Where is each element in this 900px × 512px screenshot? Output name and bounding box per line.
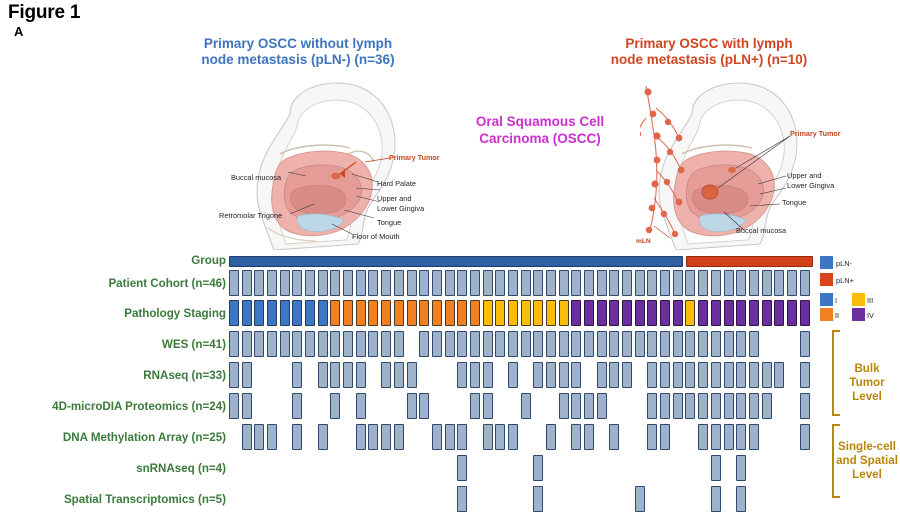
matrix-cell xyxy=(622,331,632,357)
matrix-cell xyxy=(242,331,252,357)
matrix-cell xyxy=(609,362,619,388)
matrix-row xyxy=(229,300,812,326)
matrix-cell xyxy=(635,270,645,296)
matrix-cell xyxy=(800,270,810,296)
matrix-cell xyxy=(229,300,239,326)
matrix-cell xyxy=(483,424,493,450)
matrix-cell xyxy=(407,300,417,326)
matrix-cell xyxy=(457,300,467,326)
matrix-cell xyxy=(762,300,772,326)
matrix-cell xyxy=(229,331,239,357)
legend-swatch-stage-IV xyxy=(852,308,865,321)
matrix-cell xyxy=(292,300,302,326)
matrix-cell xyxy=(457,424,467,450)
matrix-cell xyxy=(800,393,810,419)
matrix-cell xyxy=(495,270,505,296)
matrix-cell xyxy=(305,270,315,296)
matrix-cell xyxy=(559,300,569,326)
matrix-row-labels: GroupPatient Cohort (n=46)Pathology Stag… xyxy=(0,256,226,506)
anno-buccal-mucosa-left: Buccal mucosa xyxy=(231,173,281,182)
matrix-cell xyxy=(787,300,797,326)
matrix-cell xyxy=(559,393,569,419)
matrix-cell xyxy=(546,362,556,388)
matrix-cell xyxy=(685,362,695,388)
matrix-cell xyxy=(318,300,328,326)
matrix-cell xyxy=(521,270,531,296)
bracket-sc-line2: and Spatial xyxy=(836,454,898,468)
anno-retromolar-trigone: Retromolar Trigone xyxy=(219,211,282,220)
matrix-cell xyxy=(343,362,353,388)
matrix-cell xyxy=(698,424,708,450)
matrix-cell xyxy=(242,300,252,326)
matrix-cell xyxy=(470,270,480,296)
matrix-cell xyxy=(673,362,683,388)
matrix-cell xyxy=(711,270,721,296)
matrix-cell xyxy=(597,331,607,357)
matrix-cell xyxy=(457,270,467,296)
matrix-cell xyxy=(330,300,340,326)
matrix-cell xyxy=(483,393,493,419)
matrix-cell xyxy=(571,424,581,450)
matrix-cell xyxy=(673,270,683,296)
matrix-cell xyxy=(419,270,429,296)
matrix-row xyxy=(229,331,812,357)
matrix-cell xyxy=(419,331,429,357)
matrix-cell xyxy=(673,300,683,326)
matrix-cell xyxy=(597,393,607,419)
matrix-cell xyxy=(445,331,455,357)
matrix-cell xyxy=(381,331,391,357)
matrix-row xyxy=(229,424,812,450)
matrix-cell xyxy=(330,331,340,357)
matrix-cell xyxy=(356,270,366,296)
matrix-cell xyxy=(407,270,417,296)
matrix-cell xyxy=(445,424,455,450)
matrix-cell xyxy=(774,362,784,388)
matrix-cell xyxy=(622,270,632,296)
matrix-cell xyxy=(445,300,455,326)
matrix-cell xyxy=(483,300,493,326)
matrix-cell xyxy=(647,393,657,419)
matrix-cell xyxy=(559,331,569,357)
matrix-cell xyxy=(267,300,277,326)
matrix-cell xyxy=(356,424,366,450)
matrix-cell xyxy=(356,393,366,419)
oscc-title-line1: Oral Squamous Cell xyxy=(440,113,640,130)
matrix-cell xyxy=(571,331,581,357)
matrix-cell xyxy=(432,300,442,326)
row-label-wes-n-41: WES (n=41) xyxy=(162,338,226,351)
matrix-cell xyxy=(280,300,290,326)
matrix-cell xyxy=(330,362,340,388)
matrix-cell xyxy=(483,362,493,388)
matrix-cell xyxy=(647,331,657,357)
matrix-cell xyxy=(521,393,531,419)
row-label-patient-cohort-n-46: Patient Cohort (n=46) xyxy=(108,277,226,290)
legend-label-stage-I: I xyxy=(835,296,837,305)
matrix-cell xyxy=(457,362,467,388)
matrix-cell xyxy=(571,300,581,326)
matrix-row xyxy=(229,362,812,388)
matrix-cell xyxy=(330,270,340,296)
matrix-cell xyxy=(609,270,619,296)
matrix-cell xyxy=(685,300,695,326)
row-label-rnaseq-n-33: RNAseq (n=33) xyxy=(143,369,226,382)
matrix-cell xyxy=(495,300,505,326)
matrix-cell xyxy=(432,331,442,357)
matrix-cell xyxy=(419,300,429,326)
matrix-cell xyxy=(724,362,734,388)
matrix-cell xyxy=(685,270,695,296)
matrix-cell xyxy=(381,362,391,388)
bracket-bulk-line1: Bulk xyxy=(838,362,896,376)
matrix-row xyxy=(229,486,812,512)
matrix-cell xyxy=(559,270,569,296)
matrix-cell xyxy=(368,270,378,296)
row-label-4d-microdia-proteomics-n-24: 4D-microDIA Proteomics (n=24) xyxy=(52,400,226,413)
matrix-cell xyxy=(559,362,569,388)
matrix-cell xyxy=(749,270,759,296)
matrix-cell xyxy=(381,270,391,296)
matrix-cell xyxy=(584,270,594,296)
matrix-cell xyxy=(242,362,252,388)
matrix-cell xyxy=(698,331,708,357)
panel-label: A xyxy=(14,24,23,39)
matrix-cell xyxy=(343,300,353,326)
matrix-cell xyxy=(787,270,797,296)
matrix-cell xyxy=(533,331,543,357)
matrix-cell xyxy=(483,331,493,357)
matrix-cell xyxy=(660,393,670,419)
matrix-cell xyxy=(660,300,670,326)
bracket-bulk-line2: Tumor xyxy=(838,376,896,390)
row-label-dna-methylation-array-n-25: DNA Methylation Array (n=25) xyxy=(63,431,226,444)
matrix-cell xyxy=(762,362,772,388)
matrix-cell xyxy=(305,300,315,326)
matrix-row xyxy=(229,455,812,481)
matrix-cell xyxy=(673,393,683,419)
matrix-cell xyxy=(736,270,746,296)
matrix-cell xyxy=(318,270,328,296)
matrix-cell xyxy=(673,331,683,357)
bracket-bulk-tumor xyxy=(832,330,834,416)
matrix-cell xyxy=(407,393,417,419)
legend-swatch-pLN-pos xyxy=(820,273,833,286)
matrix-cell xyxy=(800,331,810,357)
anno-lower-gingiva: Lower Gingiva xyxy=(377,204,424,213)
matrix-cell xyxy=(242,270,252,296)
legend-label-group: pLN+ xyxy=(836,276,854,285)
matrix-cell xyxy=(483,270,493,296)
matrix-cell xyxy=(749,331,759,357)
oscc-title: Oral Squamous Cell Carcinoma (OSCC) xyxy=(440,113,640,147)
matrix-cell xyxy=(660,270,670,296)
matrix-cell xyxy=(381,300,391,326)
bracket-single-cell-label: Single-cell and Spatial Level xyxy=(836,440,898,482)
anno-upper-gingiva: Upper and xyxy=(377,194,412,203)
matrix-cell xyxy=(800,424,810,450)
matrix-cell xyxy=(381,424,391,450)
head-anatomy-diagram-pln-positive: Primary Tumor Upper and Lower Gingiva To… xyxy=(640,78,840,250)
row-label-group: Group xyxy=(191,254,226,267)
matrix-cell xyxy=(749,362,759,388)
matrix-cell xyxy=(495,424,505,450)
matrix-cell xyxy=(584,300,594,326)
matrix-cell xyxy=(800,300,810,326)
bracket-bulk-tumor-label: Bulk Tumor Level xyxy=(838,362,896,404)
matrix-cell xyxy=(292,362,302,388)
matrix-cell xyxy=(533,270,543,296)
matrix-cell xyxy=(724,270,734,296)
legend-label-stage-III: III xyxy=(867,296,873,305)
anno-floor-of-mouth: Floor of Mouth xyxy=(352,232,400,241)
matrix-cell xyxy=(698,300,708,326)
matrix-row xyxy=(229,393,812,419)
matrix-cell xyxy=(280,331,290,357)
anno-primary-tumor-right: Primary Tumor xyxy=(790,129,841,138)
matrix-cell xyxy=(609,300,619,326)
matrix-cell xyxy=(368,300,378,326)
matrix-cell xyxy=(457,331,467,357)
matrix-cell xyxy=(711,424,721,450)
matrix-cell xyxy=(800,362,810,388)
matrix-cell xyxy=(508,331,518,357)
matrix-cell xyxy=(622,362,632,388)
matrix-cell xyxy=(698,270,708,296)
matrix-row xyxy=(229,270,812,296)
matrix-cell xyxy=(330,393,340,419)
matrix-cell xyxy=(597,362,607,388)
matrix-cell xyxy=(546,270,556,296)
matrix-cell xyxy=(635,486,645,512)
matrix-cell xyxy=(432,270,442,296)
matrix-cell xyxy=(711,455,721,481)
matrix-cell xyxy=(736,393,746,419)
group-title-pln-negative: Primary OSCC without lymph node metastas… xyxy=(163,36,433,68)
group-title-pln-negative-line1: Primary OSCC without lymph xyxy=(163,36,433,52)
matrix-cell xyxy=(305,331,315,357)
matrix-cell xyxy=(660,362,670,388)
matrix-cell xyxy=(356,300,366,326)
matrix-cell xyxy=(571,393,581,419)
bracket-sc-line3: Level xyxy=(836,468,898,482)
matrix-cell xyxy=(292,424,302,450)
anno-lower-gingiva-right: Lower Gingiva xyxy=(787,181,834,190)
matrix-cell xyxy=(419,393,429,419)
matrix-cell xyxy=(470,393,480,419)
legend-label-group: pLN- xyxy=(836,259,852,268)
matrix-cell xyxy=(711,486,721,512)
anno-primary-tumor-left: Primary Tumor xyxy=(389,153,440,162)
matrix-cell xyxy=(546,424,556,450)
matrix-cell xyxy=(318,331,328,357)
matrix-cell xyxy=(533,300,543,326)
matrix-cell xyxy=(242,424,252,450)
matrix-cell xyxy=(774,300,784,326)
matrix-cell xyxy=(508,362,518,388)
matrix-cell xyxy=(749,424,759,450)
matrix-cell xyxy=(647,362,657,388)
bracket-single-cell xyxy=(832,424,834,498)
matrix-cell xyxy=(622,300,632,326)
matrix-cell xyxy=(318,362,328,388)
matrix-cell xyxy=(508,270,518,296)
anno-tongue-right: Tongue xyxy=(782,198,806,207)
matrix-cell xyxy=(736,331,746,357)
matrix-cell xyxy=(736,455,746,481)
matrix-cell xyxy=(229,270,239,296)
matrix-cell xyxy=(508,300,518,326)
bracket-bulk-line3: Level xyxy=(838,390,896,404)
legend-swatch-stage-III xyxy=(852,293,865,306)
matrix-cell xyxy=(267,270,277,296)
row-label-pathology-staging: Pathology Staging xyxy=(124,307,226,320)
anno-buccal-mucosa-right: Buccal mucosa xyxy=(736,226,786,235)
matrix-cell xyxy=(711,300,721,326)
anno-hard-palate: Hard Palate xyxy=(377,179,416,188)
matrix-cell xyxy=(432,424,442,450)
matrix-cell xyxy=(229,393,239,419)
matrix-cell xyxy=(470,300,480,326)
matrix-cell xyxy=(762,270,772,296)
bracket-sc-line1: Single-cell xyxy=(836,440,898,454)
matrix-cell xyxy=(546,331,556,357)
group-title-pln-negative-line2: node metastasis (pLN-) (n=36) xyxy=(163,52,433,68)
matrix-cell xyxy=(508,424,518,450)
matrix-cell xyxy=(280,270,290,296)
matrix-cell xyxy=(394,424,404,450)
matrix-cell xyxy=(394,331,404,357)
matrix-cell xyxy=(685,393,695,419)
matrix-cell xyxy=(749,300,759,326)
matrix-cell xyxy=(609,331,619,357)
matrix-cell xyxy=(597,300,607,326)
matrix-cell xyxy=(521,331,531,357)
matrix-cell xyxy=(356,331,366,357)
matrix-cell xyxy=(343,270,353,296)
matrix-cell xyxy=(292,331,302,357)
matrix-cell xyxy=(318,424,328,450)
legend-label-stage-II: II xyxy=(835,311,839,320)
matrix-cell xyxy=(711,393,721,419)
anno-tongue-left: Tongue xyxy=(377,218,401,227)
matrix-cell xyxy=(584,424,594,450)
group-bar-pln-positive xyxy=(686,256,813,267)
legend-label-stage-IV: IV xyxy=(867,311,874,320)
matrix-cell xyxy=(736,300,746,326)
matrix-cell xyxy=(407,362,417,388)
matrix-cell xyxy=(470,362,480,388)
matrix-cell xyxy=(394,300,404,326)
matrix-cell xyxy=(724,300,734,326)
matrix-cell xyxy=(254,300,264,326)
matrix-cell xyxy=(736,362,746,388)
matrix-cell xyxy=(356,362,366,388)
matrix-cell xyxy=(292,270,302,296)
row-label-snrnaseq-n-4: snRNAseq (n=4) xyxy=(136,462,226,475)
anno-upper-gingiva-right: Upper and xyxy=(787,171,822,180)
matrix-cell xyxy=(584,331,594,357)
matrix-cell xyxy=(254,424,264,450)
legend-swatch-stage-II xyxy=(820,308,833,321)
matrix-cell xyxy=(724,424,734,450)
matrix-cell xyxy=(533,486,543,512)
anno-mln: mLN xyxy=(636,238,651,245)
matrix-cell xyxy=(394,362,404,388)
matrix-cell xyxy=(521,300,531,326)
matrix-cell xyxy=(254,270,264,296)
matrix-cell xyxy=(457,455,467,481)
matrix-cell xyxy=(584,393,594,419)
matrix-cell xyxy=(635,331,645,357)
matrix-cell xyxy=(571,270,581,296)
matrix-cell xyxy=(724,393,734,419)
matrix-cell xyxy=(394,270,404,296)
matrix-cell xyxy=(698,362,708,388)
matrix-cell xyxy=(774,270,784,296)
matrix-cell xyxy=(609,424,619,450)
matrix-cell xyxy=(736,486,746,512)
matrix-cell xyxy=(546,300,556,326)
group-title-pln-positive-line1: Primary OSCC with lymph xyxy=(578,36,840,52)
matrix-cell xyxy=(292,393,302,419)
legend-swatch-pLN-neg xyxy=(820,256,833,269)
figure-number: Figure 1 xyxy=(8,2,80,24)
matrix-cell xyxy=(533,455,543,481)
matrix-cell xyxy=(660,424,670,450)
matrix-cell xyxy=(254,331,264,357)
matrix-cell xyxy=(267,331,277,357)
matrix-cell xyxy=(711,331,721,357)
matrix-cell xyxy=(368,424,378,450)
row-label-spatial-transcriptomics-n-5: Spatial Transcriptomics (n=5) xyxy=(64,493,226,506)
matrix-cell xyxy=(736,424,746,450)
matrix-cell xyxy=(647,270,657,296)
matrix-cell xyxy=(660,331,670,357)
matrix-cell xyxy=(242,393,252,419)
matrix-cell xyxy=(698,393,708,419)
group-title-pln-positive-line2: node metastasis (pLN+) (n=10) xyxy=(578,52,840,68)
matrix-cell xyxy=(343,331,353,357)
group-title-pln-positive: Primary OSCC with lymph node metastasis … xyxy=(578,36,840,68)
matrix-cell xyxy=(267,424,277,450)
head-anatomy-diagram-pln-negative: Primary Tumor Hard Palate Upper and Lowe… xyxy=(228,78,428,250)
matrix-cell xyxy=(762,393,772,419)
matrix-cell xyxy=(368,331,378,357)
matrix-cell xyxy=(647,300,657,326)
matrix-cell xyxy=(470,331,480,357)
matrix-cell xyxy=(229,362,239,388)
matrix-cell xyxy=(533,362,543,388)
matrix-cell xyxy=(647,424,657,450)
matrix-cell xyxy=(495,331,505,357)
matrix-cell xyxy=(685,331,695,357)
matrix-cell xyxy=(724,331,734,357)
matrix-cell xyxy=(635,300,645,326)
group-bar-pln-negative xyxy=(229,256,683,267)
oscc-title-line2: Carcinoma (OSCC) xyxy=(440,130,640,147)
matrix-cell xyxy=(457,486,467,512)
legend-swatch-stage-I xyxy=(820,293,833,306)
matrix-cell xyxy=(711,362,721,388)
matrix-cell xyxy=(597,270,607,296)
matrix-cell xyxy=(571,362,581,388)
matrix-cell xyxy=(749,393,759,419)
matrix-cell xyxy=(445,270,455,296)
